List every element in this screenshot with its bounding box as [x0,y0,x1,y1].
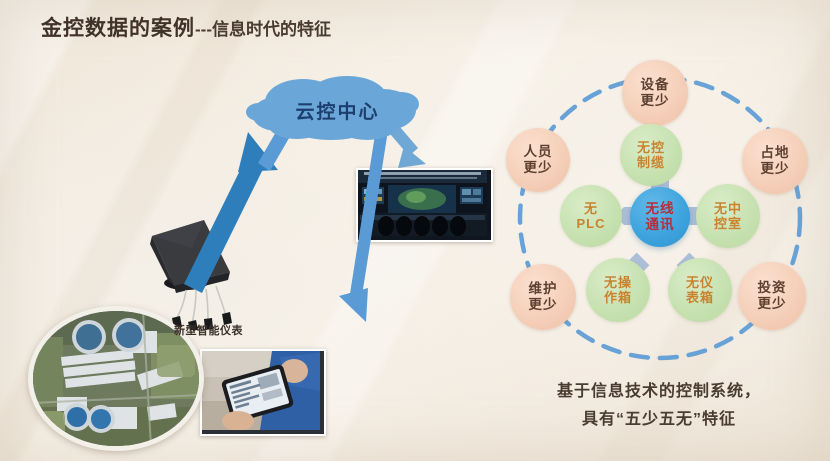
page-title: 金控数据的案例---信息时代的特征 [41,12,331,42]
page-title-main: 金控数据的案例 [41,17,195,40]
footer-caption: 基于信息技术的控制系统， 具有“五少五无”特征 [494,378,824,434]
node-investment-line2: 更少 [758,296,787,312]
footer-line-1: 基于信息技术的控制系统， [494,378,824,406]
node-no-control-cable-line1: 无控 [637,140,665,155]
five-less-five-none-diagram: 设备 更少 人员 更少 占地 更少 维护 更少 投资 更少 无控 制缆 无 PL… [494,58,824,388]
node-no-control-cable[interactable]: 无控 制缆 [620,124,682,186]
node-personnel[interactable]: 人员 更少 [506,128,570,192]
arrow-group [150,110,500,410]
node-no-instrument-box-line2: 表箱 [686,290,714,305]
footer-line-2: 具有“五少五无”特征 [494,406,824,434]
node-wireless-line2: 通讯 [646,217,675,233]
node-wireless-communication[interactable]: 无线 通讯 [630,187,690,247]
node-equipment[interactable]: 设备 更少 [622,60,688,126]
node-investment[interactable]: 投资 更少 [738,262,806,330]
node-no-control-room-line1: 无中 [714,201,742,216]
node-no-instrument-box[interactable]: 无仪 表箱 [668,258,732,322]
node-personnel-line2: 更少 [524,160,553,176]
page-title-sub: 信息时代的特征 [212,20,331,39]
cloud-label: 云控中心 [243,74,428,146]
page-title-dashes: --- [195,20,212,39]
node-maintenance-line1: 维护 [529,281,558,297]
slide-canvas: 金控数据的案例---信息时代的特征 [0,0,830,461]
node-equipment-line1: 设备 [641,77,670,93]
node-no-instrument-box-line1: 无仪 [686,275,714,290]
node-equipment-line2: 更少 [641,93,670,109]
node-personnel-line1: 人员 [524,144,553,160]
node-no-control-room-line2: 控室 [714,216,742,231]
node-land-line2: 更少 [761,161,790,177]
smart-meter-label: 新型智能仪表 [174,322,243,338]
cloud-control-center[interactable]: 云控中心 [243,74,428,146]
node-land-line1: 占地 [761,145,790,161]
node-investment-line1: 投资 [758,280,787,296]
node-maintenance[interactable]: 维护 更少 [510,264,576,330]
node-no-operation-box-line2: 作箱 [604,290,632,305]
node-no-operation-box-line1: 无操 [604,275,632,290]
arrow-cloud-to-phone [339,122,389,322]
node-land[interactable]: 占地 更少 [742,128,808,194]
node-no-operation-box[interactable]: 无操 作箱 [586,258,650,322]
node-no-control-cable-line2: 制缆 [637,155,665,170]
node-wireless-line1: 无线 [646,201,675,217]
node-no-control-room[interactable]: 无中 控室 [696,184,760,248]
node-maintenance-line2: 更少 [529,297,558,313]
node-no-plc-line2: PLC [577,216,606,231]
node-no-plc[interactable]: 无 PLC [560,185,622,247]
node-no-plc-line1: 无 [584,201,598,216]
